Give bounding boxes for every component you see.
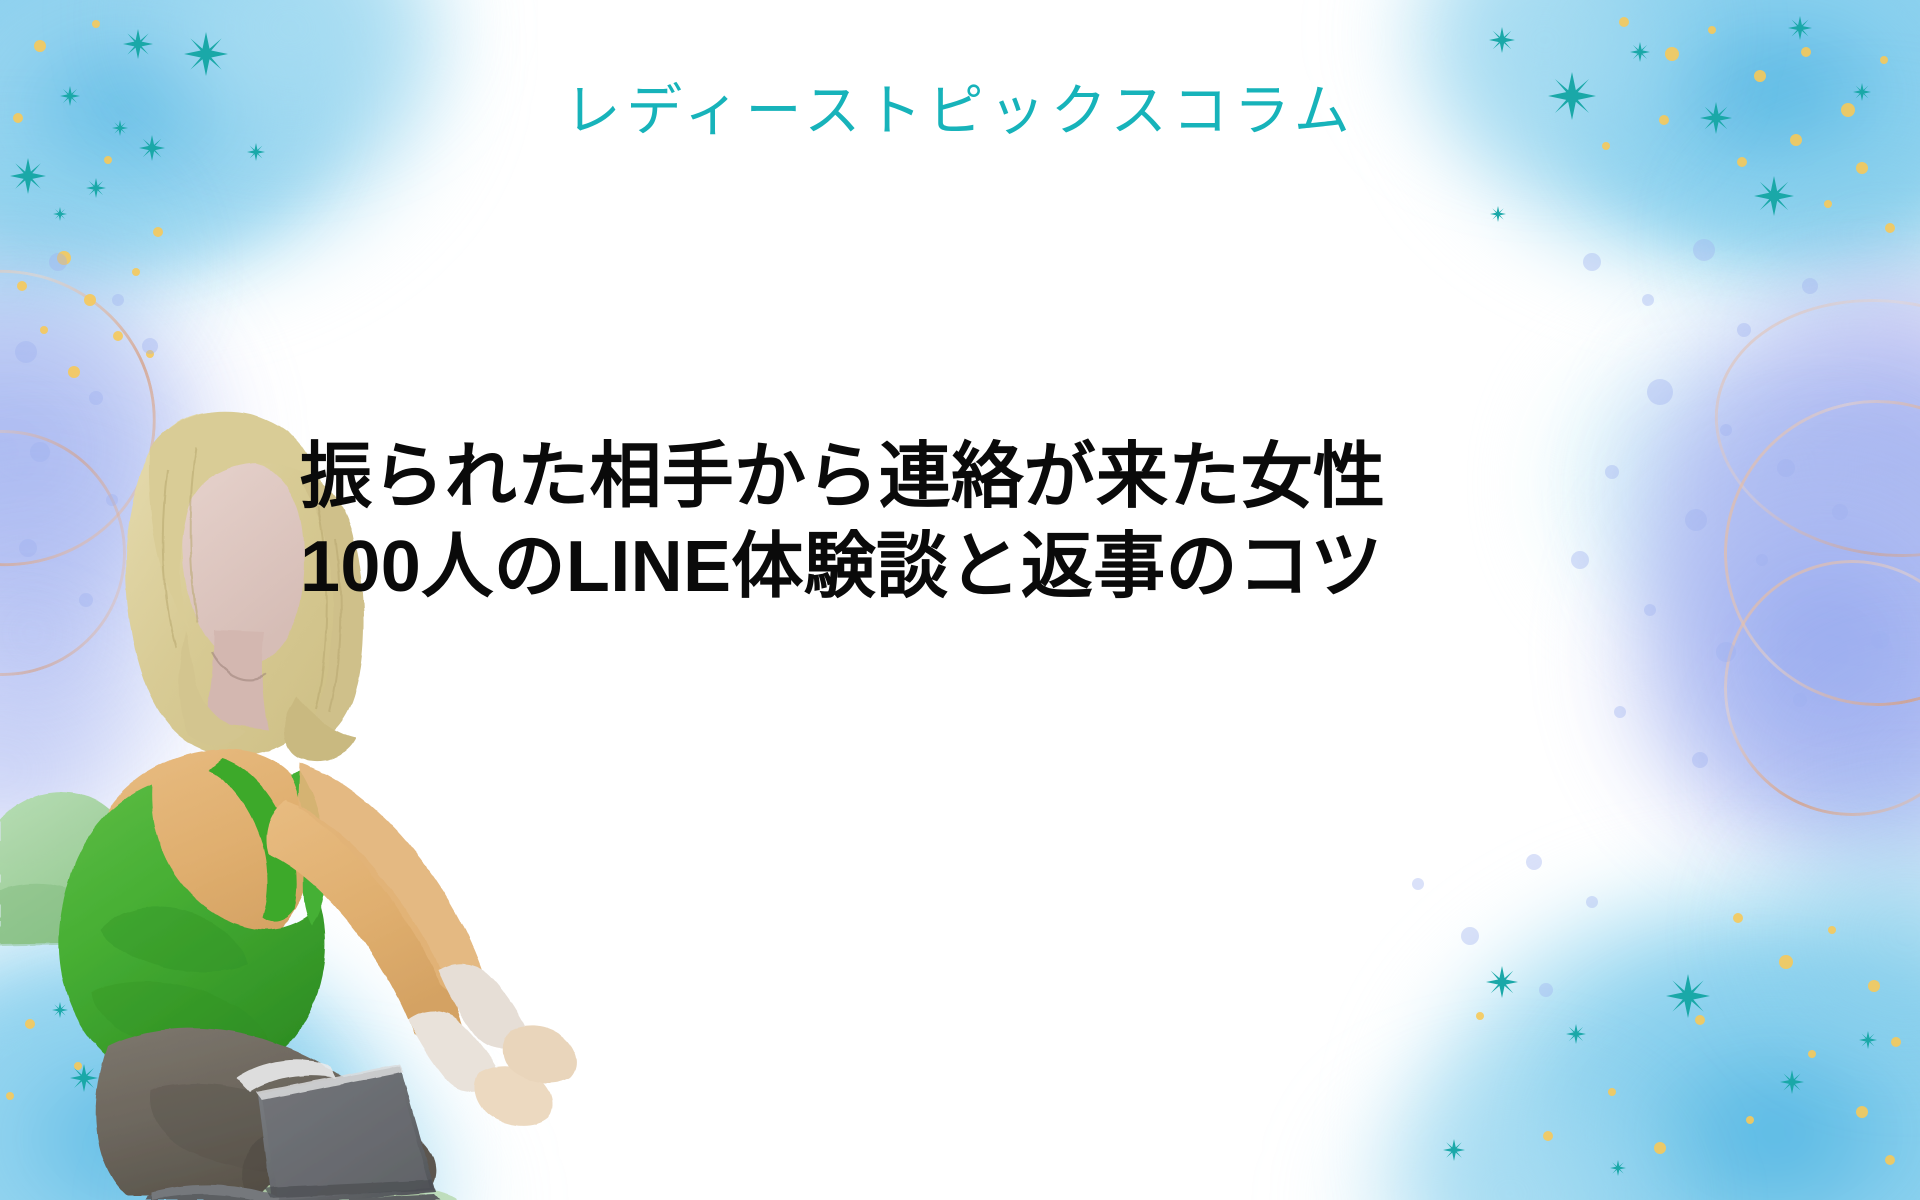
gold-dot — [132, 268, 140, 276]
bubble-circle — [1756, 554, 1768, 566]
bubble-circle — [1583, 253, 1601, 271]
sparkle-star-icon — [1610, 1160, 1626, 1176]
bubble-circle — [1802, 278, 1818, 294]
gold-dot — [1733, 913, 1743, 923]
gold-dot — [84, 294, 96, 306]
bubble-circle — [1793, 693, 1807, 707]
watercolor-blob-bottom-right-upper — [1730, 790, 1920, 1070]
glitter-arc-right-lower — [1685, 521, 1920, 854]
bubble-circle — [1461, 927, 1479, 945]
bubble-circle — [1642, 294, 1654, 306]
article-header-card: レディーストピックスコラム 振られた相手から連絡が来た女性 100人のLINE体… — [0, 0, 1920, 1200]
gold-dot — [1801, 47, 1811, 57]
bubble-circle — [1871, 631, 1889, 649]
gold-dot — [153, 227, 163, 237]
bubble-circle — [1614, 706, 1626, 718]
gold-dot — [1665, 47, 1679, 61]
bubble-circle — [1571, 551, 1589, 569]
gold-dot — [1779, 955, 1793, 969]
bubble-circle — [1586, 896, 1598, 908]
bubble-circle — [1412, 878, 1424, 890]
sparkle-star-icon — [1859, 1031, 1877, 1049]
glitter-arc-right-upper — [1698, 277, 1920, 579]
bubble-circle — [1693, 239, 1715, 261]
gold-dot — [1746, 1116, 1754, 1124]
sparkle-star-icon — [1490, 206, 1506, 222]
sparkle-star-icon — [1489, 27, 1515, 53]
gold-dot — [1737, 157, 1747, 167]
watercolor-blob-bottom-right-edge — [1330, 1080, 1690, 1200]
bubble-circle — [1605, 465, 1619, 479]
bubble-circle — [1526, 854, 1542, 870]
bubble-circle — [1720, 424, 1732, 436]
gold-dot — [57, 251, 71, 265]
category-kicker: レディーストピックスコラム — [0, 66, 1920, 147]
gold-dot — [17, 281, 27, 291]
sparkle-star-icon — [1486, 966, 1518, 998]
gold-dot — [1654, 1142, 1666, 1154]
sparkle-star-icon — [53, 207, 67, 221]
glitter-arc-right-mid — [1692, 368, 1920, 739]
gold-dot — [34, 40, 46, 52]
watercolor-blob-right-periwinkle-bottom — [1730, 620, 1920, 920]
sparkle-star-icon — [10, 158, 46, 194]
sparkle-star-icon — [1780, 1070, 1804, 1094]
gold-dot — [1543, 1131, 1553, 1141]
sparkle-star-icon — [1666, 974, 1710, 1018]
watercolor-blob-top-right-lower — [1690, 110, 1920, 380]
sparkle-star-icon — [1788, 16, 1812, 40]
page-title: 振られた相手から連絡が来た女性 100人のLINE体験談と返事のコツ — [300, 433, 1320, 612]
sparkle-star-icon — [86, 178, 106, 198]
sparkle-star-icon — [123, 29, 153, 59]
gold-dot — [1708, 26, 1716, 34]
watercolor-blob-right-pale — [1550, 330, 1880, 630]
gold-dot — [1891, 1037, 1901, 1047]
bubble-circle — [49, 253, 67, 271]
bubble-circle — [1716, 642, 1736, 662]
sparkle-star-icon — [1630, 42, 1650, 62]
gold-dot — [1885, 1155, 1895, 1165]
gold-dot — [1824, 200, 1832, 208]
gold-dot — [1808, 1050, 1816, 1058]
watercolor-blob-bottom-right-inner — [1530, 960, 1920, 1200]
sparkle-star-icon — [1754, 176, 1794, 216]
bubble-circle — [1685, 509, 1707, 531]
bubble-circle — [1692, 752, 1708, 768]
gold-dot — [1868, 980, 1880, 992]
gold-dot — [1476, 1012, 1484, 1020]
sparkle-star-icon — [1443, 1139, 1465, 1161]
watercolor-blob-right-periwinkle-upper — [1630, 290, 1920, 710]
bubble-circle — [1777, 459, 1795, 477]
watercolor-blob-right-lavender — [1760, 250, 1920, 460]
watercolor-blob-right-periwinkle-lower — [1610, 430, 1920, 860]
page-title-line-1: 振られた相手から連絡が来た女性 — [300, 433, 1320, 522]
bubble-circle — [1832, 504, 1848, 520]
bubble-circle — [1647, 379, 1673, 405]
gold-dot — [1880, 56, 1888, 64]
gold-dot — [1828, 926, 1836, 934]
bubble-circle — [1737, 323, 1751, 337]
watercolor-blob-bottom-right — [1410, 890, 1920, 1200]
sparkle-star-icon — [1566, 1024, 1586, 1044]
gold-dot — [1695, 1015, 1705, 1025]
gold-dot — [104, 156, 112, 164]
page-title-line-2: 100人のLINE体験談と返事のコツ — [300, 523, 1320, 612]
gold-dot — [1856, 1106, 1868, 1118]
gold-dot — [1856, 162, 1868, 174]
gold-dot — [1608, 1088, 1616, 1096]
gold-dot — [1619, 17, 1629, 27]
bubble-circle — [112, 294, 124, 306]
bubble-circle — [1644, 604, 1656, 616]
bubble-circle — [1539, 983, 1553, 997]
gold-dot — [92, 20, 100, 28]
gold-dot — [1885, 223, 1895, 233]
